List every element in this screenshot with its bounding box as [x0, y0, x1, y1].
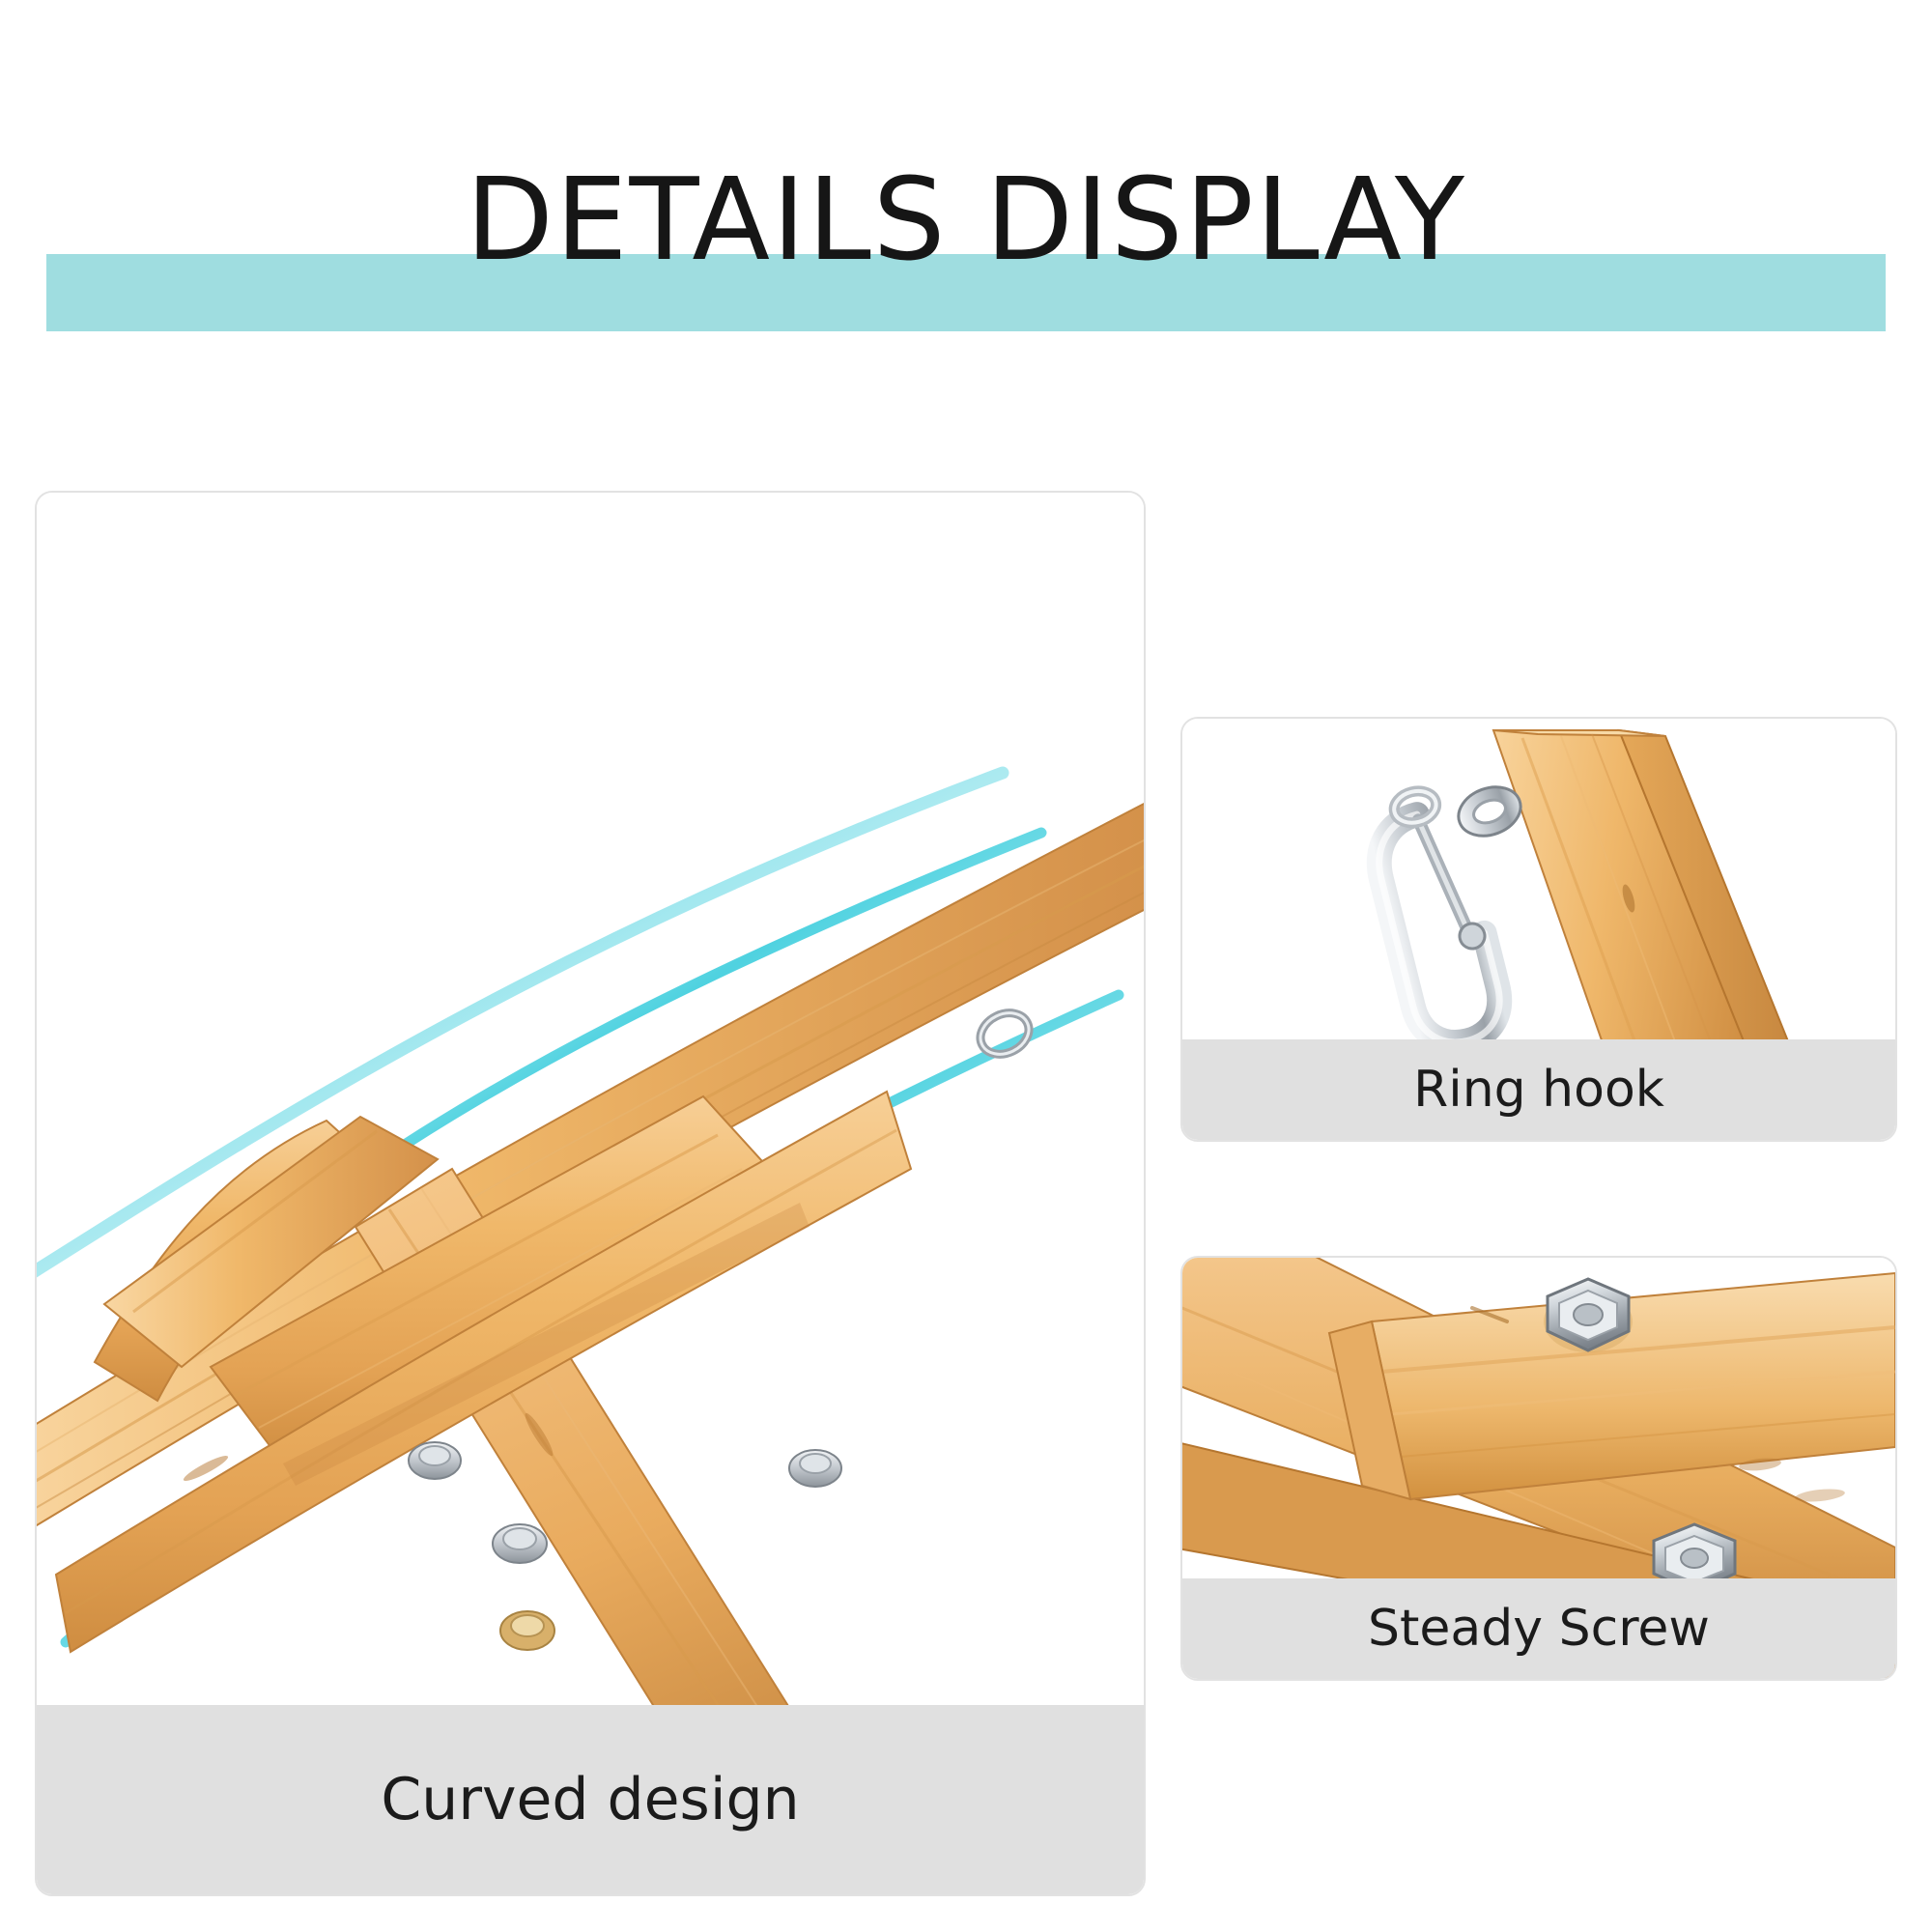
page-header: DETAILS DISPLAY [0, 0, 1932, 367]
bolt-2 [493, 1524, 547, 1563]
detail-card-ring-hook: Ring hook [1180, 717, 1897, 1142]
bolt-4 [789, 1450, 841, 1487]
bolt-1 [409, 1442, 461, 1479]
caption-ring-hook: Ring hook [1182, 1039, 1895, 1140]
curved-design-illustration [37, 493, 1144, 1894]
detail-card-curved-design: Curved design [35, 491, 1146, 1896]
detail-card-steady-screw: Steady Screw [1180, 1256, 1897, 1681]
bolt-3 [500, 1611, 554, 1650]
caption-curved-design: Curved design [37, 1705, 1144, 1894]
photo-curved-design [37, 493, 1144, 1894]
page-title: DETAILS DISPLAY [0, 162, 1932, 276]
caption-steady-screw: Steady Screw [1182, 1578, 1895, 1679]
